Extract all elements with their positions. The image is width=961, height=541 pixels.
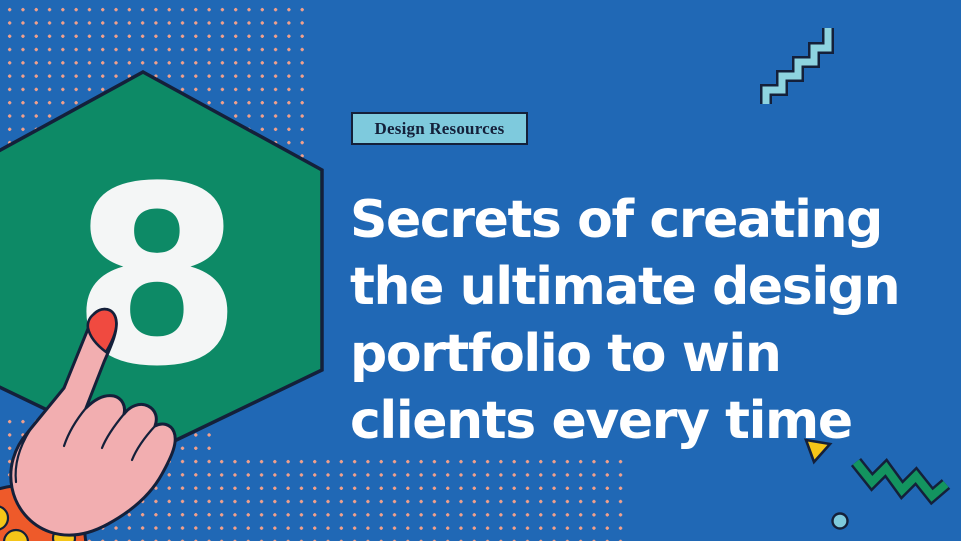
triangle-down-icon (803, 437, 833, 465)
headline-line-1: Secrets of creating (350, 187, 895, 254)
circle-dot-icon (830, 511, 850, 531)
category-badge-label: Design Resources (375, 119, 505, 139)
hand-shape (11, 309, 175, 535)
dot-pattern-bottom-middle (212, 452, 632, 541)
headline-line-2: the ultimate design (350, 254, 895, 321)
zigzag-icon (852, 452, 950, 508)
page-title: Secrets of creating the ultimate design … (350, 187, 895, 455)
category-badge[interactable]: Design Resources (351, 112, 528, 145)
slide-canvas: 8 Design Resources (0, 0, 961, 541)
pointing-hand-icon (0, 296, 200, 541)
headline-line-3: portfolio to win (350, 321, 895, 388)
staircase-zigzag-icon (762, 24, 836, 108)
